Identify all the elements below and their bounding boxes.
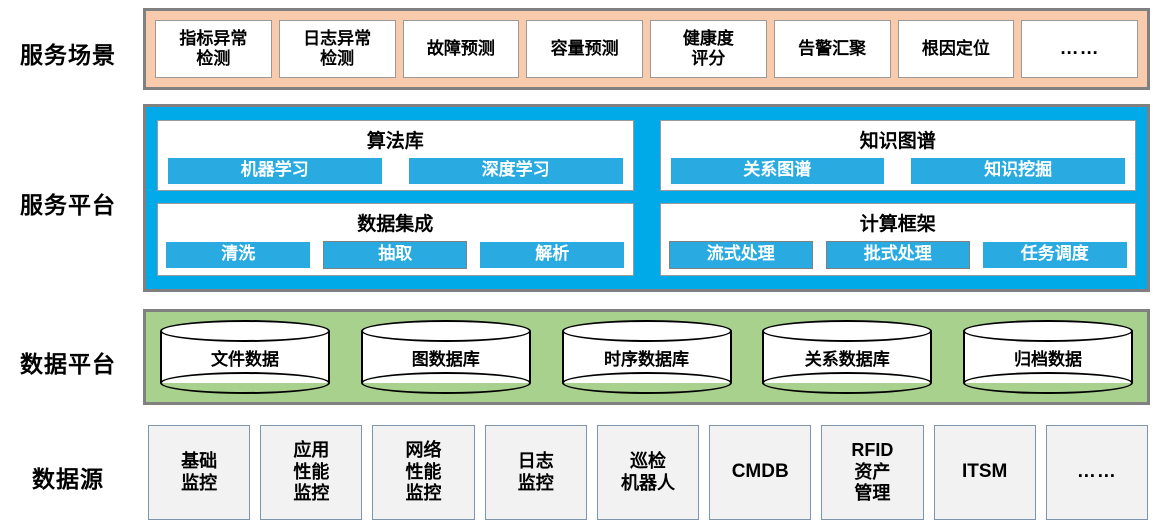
cylinder-file-data[interactable]: 文件数据 [160,320,330,394]
source-box-label: ITSM [962,461,1007,484]
platform-card-title: 计算框架 [860,209,936,236]
scene-box-label: 告警汇聚 [798,39,866,59]
chip-knowledge-mining[interactable]: 知识挖掘 [911,158,1125,184]
chip-machine-learning[interactable]: 机器学习 [168,158,382,184]
row-label-service-scene: 服务场景 [0,36,136,70]
source-box-label: 应用性能监控 [293,440,329,505]
cylinder-label: 时序数据库 [562,320,732,394]
cylinder-archive-data[interactable]: 归档数据 [963,320,1133,394]
platform-card-computing-framework[interactable]: 计算框架 流式处理 批式处理 任务调度 [660,203,1137,276]
cylinder-label: 图数据库 [361,320,531,394]
cylinder-timeseries-database[interactable]: 时序数据库 [562,320,732,394]
cylinder-relational-database[interactable]: 关系数据库 [762,320,932,394]
row-label-service-platform: 服务平台 [0,186,136,220]
band-data-platform: 文件数据 图数据库 时序数据库 关系数据库 [143,309,1150,405]
scene-box-label: 根因定位 [922,39,990,59]
chip-label: 机器学习 [241,160,309,179]
source-box-label: …… [1077,461,1117,484]
chip-extraction[interactable]: 抽取 [323,241,467,269]
cylinder-label: 关系数据库 [762,320,932,394]
source-box-label: 基础监控 [181,451,217,494]
cylinder-graph-database[interactable]: 图数据库 [361,320,531,394]
source-box-cmdb[interactable]: CMDB [709,425,811,520]
scene-box-label: …… [1060,38,1100,60]
scene-box-more[interactable]: …… [1021,20,1138,78]
chip-label: 任务调度 [1021,244,1089,263]
scene-box-metric-anomaly[interactable]: 指标异常检测 [155,20,272,78]
cylinder-label: 文件数据 [160,320,330,394]
chip-label: 关系图谱 [743,160,811,179]
platform-card-knowledge-graph[interactable]: 知识图谱 关系图谱 知识挖掘 [660,120,1137,191]
source-box-label: CMDB [732,461,789,484]
chip-batch-processing[interactable]: 批式处理 [826,241,970,269]
source-box-log-monitoring[interactable]: 日志监控 [485,425,587,520]
chip-label: 清洗 [221,244,255,263]
scene-box-label: 日志异常检测 [303,29,371,69]
source-box-more[interactable]: …… [1046,425,1148,520]
scene-box-capacity-prediction[interactable]: 容量预测 [526,20,643,78]
scene-box-health-score[interactable]: 健康度评分 [650,20,767,78]
chip-label: 知识挖掘 [984,160,1052,179]
scene-box-label: 指标异常检测 [179,29,247,69]
source-box-rfid-asset-management[interactable]: RFID资产管理 [821,425,923,520]
chip-stream-processing[interactable]: 流式处理 [669,241,813,269]
chip-deep-learning[interactable]: 深度学习 [409,158,623,184]
cylinder-label: 归档数据 [963,320,1133,394]
source-box-label: 巡检机器人 [621,451,675,494]
source-box-infrastructure-monitoring[interactable]: 基础监控 [148,425,250,520]
chip-label: 批式处理 [864,244,932,263]
source-box-itsm[interactable]: ITSM [934,425,1036,520]
band-service-scene: 指标异常检测 日志异常检测 故障预测 容量预测 健康度评分 告警汇聚 根因定位 … [143,8,1150,90]
platform-card-title: 数据集成 [357,209,433,236]
source-box-label: RFID资产管理 [851,440,893,505]
scene-box-label: 容量预测 [551,39,619,59]
row-label-data-source: 数据源 [0,460,136,494]
chip-label: 流式处理 [707,244,775,263]
source-box-application-performance-monitoring[interactable]: 应用性能监控 [260,425,362,520]
data-store-list: 文件数据 图数据库 时序数据库 关系数据库 [146,312,1147,402]
scene-box-fault-prediction[interactable]: 故障预测 [403,20,520,78]
band-service-platform: 算法库 机器学习 深度学习 知识图谱 关系图谱 知识挖掘 数据集成 清洗 抽取 [143,104,1150,292]
platform-chip-row: 流式处理 批式处理 任务调度 [661,241,1136,275]
chip-relation-graph[interactable]: 关系图谱 [671,158,885,184]
source-box-label: 日志监控 [518,451,554,494]
platform-card-algorithm-library[interactable]: 算法库 机器学习 深度学习 [157,120,634,191]
service-platform-card-grid: 算法库 机器学习 深度学习 知识图谱 关系图谱 知识挖掘 数据集成 清洗 抽取 [146,107,1147,289]
source-box-label: 网络性能监控 [406,440,442,505]
chip-label: 抽取 [378,244,412,263]
chip-label: 深度学习 [482,160,550,179]
chip-task-scheduling[interactable]: 任务调度 [983,242,1127,268]
platform-card-title: 知识图谱 [860,126,936,153]
architecture-diagram: 服务场景 指标异常检测 日志异常检测 故障预测 容量预测 健康度评分 告警汇聚 … [0,0,1159,530]
chip-label: 解析 [535,244,569,263]
chip-cleaning[interactable]: 清洗 [166,242,310,268]
data-source-box-list: 基础监控 应用性能监控 网络性能监控 日志监控 巡检机器人 CMDB RFID资… [148,425,1148,520]
platform-chip-row: 清洗 抽取 解析 [158,241,633,275]
scene-box-root-cause[interactable]: 根因定位 [898,20,1015,78]
source-box-inspection-robot[interactable]: 巡检机器人 [597,425,699,520]
row-label-data-platform: 数据平台 [0,345,136,379]
scene-box-label: 健康度评分 [683,29,734,69]
scene-box-log-anomaly[interactable]: 日志异常检测 [279,20,396,78]
platform-chip-row: 关系图谱 知识挖掘 [661,158,1136,190]
platform-card-data-integration[interactable]: 数据集成 清洗 抽取 解析 [157,203,634,276]
platform-chip-row: 机器学习 深度学习 [158,158,633,190]
service-scene-box-list: 指标异常检测 日志异常检测 故障预测 容量预测 健康度评分 告警汇聚 根因定位 … [146,20,1147,78]
platform-card-title: 算法库 [367,126,424,153]
scene-box-label: 故障预测 [427,39,495,59]
chip-parsing[interactable]: 解析 [480,242,624,268]
scene-box-alarm-aggregation[interactable]: 告警汇聚 [774,20,891,78]
source-box-network-performance-monitoring[interactable]: 网络性能监控 [372,425,474,520]
